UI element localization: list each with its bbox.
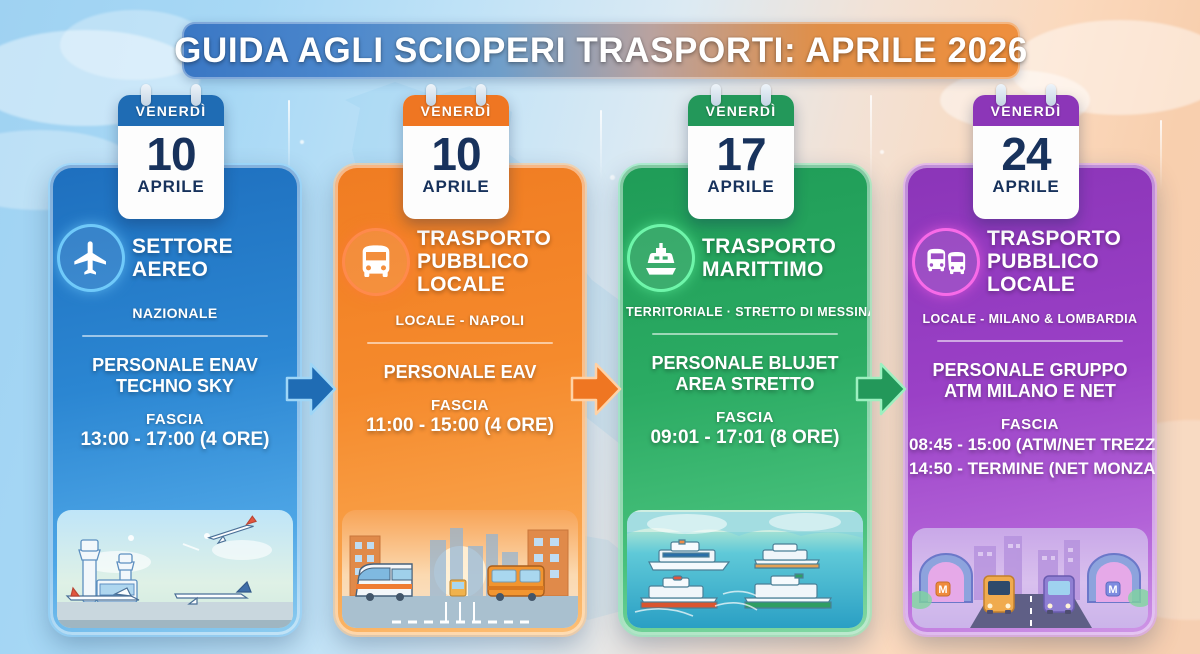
airport-scene-illustration — [57, 510, 293, 628]
sector-name: TRASPORTO PUBBLICO LOCALE — [987, 227, 1145, 296]
staff-label: PERSONALE ENAV TECHNO SKY — [50, 355, 300, 397]
calendar-day: 24 — [1001, 128, 1050, 180]
sector-row: TRASPORTO PUBBLICO LOCALE — [905, 227, 1155, 296]
metro-bus-scene-illustration: M M — [912, 528, 1148, 628]
fascia-label: FASCIA — [716, 409, 774, 426]
divider — [82, 335, 268, 337]
staff-label: PERSONALE BLUJET AREA STRETTO — [620, 353, 870, 395]
bus-tram-icon — [915, 231, 977, 293]
page-title-text: GUIDA AGLI SCIOPERI TRASPORTI: APRILE 20… — [174, 31, 1028, 71]
strike-card-tpl-napoli[interactable]: TRASPORTO PUBBLICO LOCALE LOCALE - NAPOL… — [335, 165, 585, 635]
fascia-label: FASCIA — [1001, 416, 1059, 433]
bus-icon — [345, 231, 407, 293]
sector-name: TRASPORTO PUBBLICO LOCALE — [417, 227, 575, 296]
scope-label: TERRITORIALE · STRETTO DI MESSINA — [620, 305, 870, 319]
fascia-time: 11:00 - 15:00 (4 ORE) — [335, 414, 585, 438]
fascia-label: FASCIA — [431, 397, 489, 414]
fascia-label: FASCIA — [146, 411, 204, 428]
strike-card-aereo[interactable]: SETTORE AEREO NAZIONALE PERSONALE ENAV T… — [50, 165, 300, 635]
calendar-month: APRILE — [992, 177, 1059, 197]
calendar-month: APRILE — [707, 177, 774, 197]
fascia-time: 08:45 - 15:00 (ATM/NET TREZZO) — [905, 433, 1155, 457]
calendar-badge-1: VENERDÌ 10 APRILE — [118, 95, 224, 219]
calendar-day: 17 — [716, 128, 765, 180]
staff-label: PERSONALE EAV — [335, 362, 585, 383]
ferry-icon — [630, 227, 692, 289]
airplane-icon — [60, 227, 122, 289]
arrow-card3-to-card4 — [855, 362, 907, 416]
staff-label: PERSONALE GRUPPO ATM MILANO E NET — [905, 360, 1155, 402]
arrow-card2-to-card3 — [570, 362, 622, 416]
divider — [937, 340, 1123, 342]
calendar-month: APRILE — [422, 177, 489, 197]
sparkle-decoration — [880, 150, 884, 154]
calendar-rings — [688, 84, 794, 106]
strike-card-tpl-milano[interactable]: TRASPORTO PUBBLICO LOCALE LOCALE - MILAN… — [905, 165, 1155, 635]
calendar-day: 10 — [146, 128, 195, 180]
sparkle-decoration — [610, 175, 615, 180]
sector-name: SETTORE AEREO — [132, 235, 290, 281]
scope-label: LOCALE - MILANO & LOMBARDIA — [905, 312, 1155, 326]
calendar-badge-4: VENERDÌ 24 APRILE — [973, 95, 1079, 219]
divider — [367, 342, 553, 344]
calendar-rings — [403, 84, 509, 106]
sector-row: TRASPORTO PUBBLICO LOCALE — [335, 227, 585, 296]
fascia-time-secondary: 14:50 - TERMINE (NET MONZA) — [905, 457, 1155, 481]
light-streak-decoration — [870, 95, 872, 185]
calendar-badge-3: VENERDÌ 17 APRILE — [688, 95, 794, 219]
calendar-day: 10 — [431, 128, 480, 180]
light-streak-decoration — [1160, 120, 1162, 190]
strike-card-marittimo[interactable]: TRASPORTO MARITTIMO TERRITORIALE · STRET… — [620, 165, 870, 635]
fascia-time: 09:01 - 17:01 (8 ORE) — [620, 426, 870, 450]
arrow-card1-to-card2 — [285, 362, 337, 416]
svg-text:M: M — [1108, 584, 1117, 596]
calendar-rings — [973, 84, 1079, 106]
calendar-rings — [118, 84, 224, 106]
fascia-time: 13:00 - 17:00 (4 ORE) — [50, 428, 300, 452]
svg-text:M: M — [938, 584, 947, 596]
ferry-sea-scene-illustration — [627, 510, 863, 628]
sector-row: SETTORE AEREO — [50, 227, 300, 289]
sector-row: TRASPORTO MARITTIMO — [620, 227, 870, 289]
scope-label: NAZIONALE — [50, 305, 300, 321]
page-title: GUIDA AGLI SCIOPERI TRASPORTI: APRILE 20… — [182, 22, 1020, 79]
infographic-canvas: GUIDA AGLI SCIOPERI TRASPORTI: APRILE 20… — [0, 0, 1200, 654]
divider — [652, 333, 838, 335]
calendar-badge-2: VENERDÌ 10 APRILE — [403, 95, 509, 219]
sector-name: TRASPORTO MARITTIMO — [702, 235, 860, 281]
light-streak-decoration — [600, 110, 602, 180]
sparkle-decoration — [300, 140, 304, 144]
calendar-month: APRILE — [137, 177, 204, 197]
city-tram-bus-scene-illustration — [342, 510, 578, 628]
scope-label: LOCALE - NAPOLI — [335, 312, 585, 328]
